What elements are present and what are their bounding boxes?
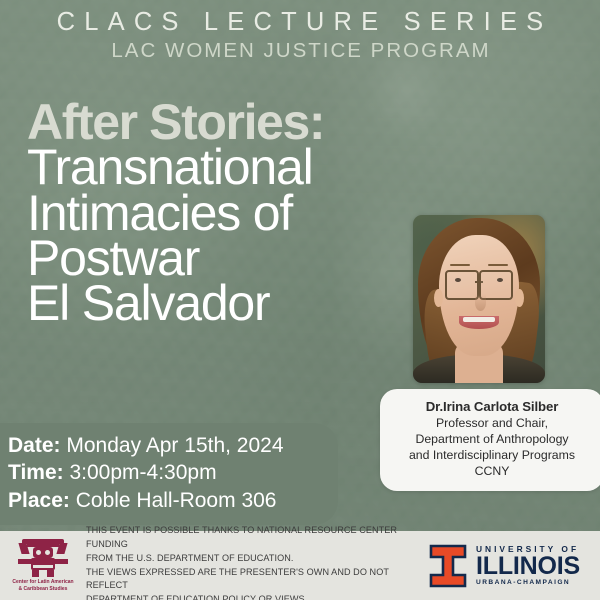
event-place-row: Place: Coble Hall-Room 306: [8, 487, 338, 514]
clacs-caption-line-1: Center for Latin American: [12, 579, 73, 586]
eyeglasses-icon: [445, 270, 514, 295]
speaker-role-line-2: Department of Anthropology: [390, 432, 594, 448]
speaker-info-card: Dr.Irina Carlota Silber Professor and Ch…: [380, 389, 600, 491]
speaker-role-line-3: and Interdisciplinary Programs: [390, 448, 594, 464]
title-line-2: Transnational: [27, 145, 427, 190]
date-label: Date:: [8, 434, 61, 457]
illinois-line-3: URBANA-CHAMPAIGN: [476, 580, 580, 587]
date-value: Monday Apr 15th, 2024: [66, 434, 283, 457]
clacs-caption-line-2: & Caribbean Studies: [12, 586, 73, 593]
event-date-row: Date: Monday Apr 15th, 2024: [8, 432, 338, 459]
lecture-series-title: CLACS LECTURE SERIES: [0, 9, 600, 36]
speaker-name: Dr.Irina Carlota Silber: [390, 398, 594, 415]
page-title: After Stories: Transnational Intimacies …: [27, 100, 427, 326]
disclaimer-line-4: DEPARTMENT OF EDUCATION POLICY OR VIEWS.: [86, 593, 429, 600]
speaker-affiliation: CCNY: [390, 464, 594, 480]
disclaimer-line-1: THIS EVENT IS POSSIBLE THANKS TO NATIONA…: [86, 524, 429, 552]
time-value: 3:00pm-4:30pm: [69, 461, 216, 484]
photo-nose: [475, 294, 486, 311]
time-label: Time:: [8, 461, 64, 484]
poster-header: CLACS LECTURE SERIES LAC WOMEN JUSTICE P…: [0, 9, 600, 62]
title-line-3: Intimacies of: [27, 191, 427, 236]
place-label: Place:: [8, 489, 70, 512]
photo-teeth: [463, 317, 495, 323]
clacs-logo: Center for Latin American & Caribbean St…: [0, 539, 82, 593]
photo-eyebrow-right: [488, 264, 508, 267]
photo-ear-right: [515, 289, 524, 307]
place-value: Coble Hall-Room 306: [76, 489, 277, 512]
university-of-illinois-logo: UNIVERSITY OF ILLINOIS URBANA-CHAMPAIGN: [429, 544, 600, 588]
event-poster: CLACS LECTURE SERIES LAC WOMEN JUSTICE P…: [0, 0, 600, 600]
illinois-wordmark: UNIVERSITY OF ILLINOIS URBANA-CHAMPAIGN: [476, 545, 580, 587]
illinois-line-2: ILLINOIS: [476, 554, 580, 579]
title-line-5: El Salvador: [27, 281, 427, 326]
clacs-caption: Center for Latin American & Caribbean St…: [12, 579, 73, 593]
funding-disclaimer: THIS EVENT IS POSSIBLE THANKS TO NATIONA…: [82, 524, 429, 600]
poster-footer: Center for Latin American & Caribbean St…: [0, 531, 600, 600]
speaker-role-line-1: Professor and Chair,: [390, 416, 594, 432]
speaker-photo: [413, 215, 545, 383]
program-subtitle: LAC WOMEN JUSTICE PROGRAM: [0, 39, 600, 63]
block-i-icon: [429, 544, 467, 588]
photo-eyebrow-left: [450, 264, 470, 267]
disclaimer-line-3: THE VIEWS EXPRESSED ARE THE PRESENTER'S …: [86, 566, 429, 594]
disclaimer-line-2: FROM THE U.S. DEPARTMENT OF EDUCATION.: [86, 552, 429, 566]
event-time-row: Time: 3:00pm-4:30pm: [8, 459, 338, 486]
clacs-figure-icon: [18, 539, 68, 577]
event-details-panel: Date: Monday Apr 15th, 2024 Time: 3:00pm…: [0, 423, 338, 525]
